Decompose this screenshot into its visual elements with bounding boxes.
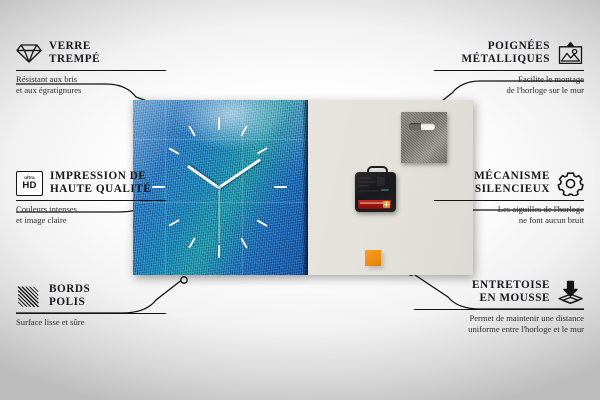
feature-impression-hd: ultra HD IMPRESSION DE HAUTE QUALITÉ Cou… <box>16 170 166 225</box>
feature-divider <box>16 70 166 71</box>
hatched-triangle-icon <box>16 285 42 307</box>
feature-bords-polis: BORDS POLIS Surface lisse et sûre <box>16 283 166 328</box>
feature-divider <box>414 309 584 310</box>
feature-title-line1: VERRE <box>49 40 100 53</box>
clock-center-pin <box>218 186 221 189</box>
feature-title-line1: ENTRETOISE <box>472 279 550 292</box>
feature-description: Les aiguilles de l'horloge ne font aucun… <box>434 204 584 225</box>
feature-title-line2: MÉTALLIQUES <box>461 53 550 66</box>
foam-spacer <box>365 250 381 266</box>
hanger-keyhole-slot <box>409 123 435 130</box>
hanging-picture-icon <box>557 41 584 65</box>
product-image <box>133 100 473 275</box>
feature-title-line1: MÉCANISME <box>474 170 550 183</box>
feature-title-line1: POIGNÉES <box>461 40 550 53</box>
clock-second-hand <box>218 188 219 244</box>
feature-title-line2: POLIS <box>49 296 90 309</box>
feature-description: Permet de maintenir une distance uniform… <box>414 313 584 334</box>
gear-icon <box>557 171 584 196</box>
feature-divider <box>16 200 166 201</box>
hd-badge-main-label: HD <box>22 181 36 191</box>
feature-poignees-metalliques: POIGNÉES MÉTALLIQUES Facilite le montage… <box>434 40 584 95</box>
clock-mechanism <box>355 172 396 212</box>
connector-endpoint <box>181 277 187 283</box>
feature-title-line2: TREMPÉ <box>49 53 100 66</box>
feature-divider <box>434 70 584 71</box>
ultra-hd-badge-icon: ultra HD <box>16 171 43 196</box>
feature-divider <box>16 313 166 314</box>
feature-divider <box>434 200 584 201</box>
battery-plus-terminal <box>383 201 390 208</box>
feature-description: Résistant aux bris et aux égratignures <box>16 74 166 95</box>
feature-description: Surface lisse et sûre <box>16 317 166 327</box>
metal-hanger-plate <box>401 112 447 163</box>
feature-title-line2: EN MOUSSE <box>472 292 550 305</box>
feature-title-line2: SILENCIEUX <box>474 183 550 196</box>
feature-title-line1: BORDS <box>49 283 90 296</box>
feature-title-line2: HAUTE QUALITÉ <box>50 183 151 196</box>
feature-entretoise-en-mousse: ENTRETOISE EN MOUSSE Permet de maintenir… <box>414 279 584 334</box>
feature-description: Couleurs intenses et image claire <box>16 204 166 225</box>
feature-description: Facilite le montage de l'horloge sur le … <box>434 74 584 95</box>
feature-mecanisme-silencieux: MÉCANISME SILENCIEUX Les aiguilles de l'… <box>434 170 584 225</box>
battery <box>358 200 391 209</box>
infographic-canvas: VERRE TREMPÉ Résistant aux bris et aux é… <box>0 0 600 400</box>
feature-verre-trempe: VERRE TREMPÉ Résistant aux bris et aux é… <box>16 40 166 95</box>
diamond-icon <box>16 42 42 64</box>
feature-title-line1: IMPRESSION DE <box>50 170 151 183</box>
down-arrow-onto-pad-icon <box>557 280 584 305</box>
